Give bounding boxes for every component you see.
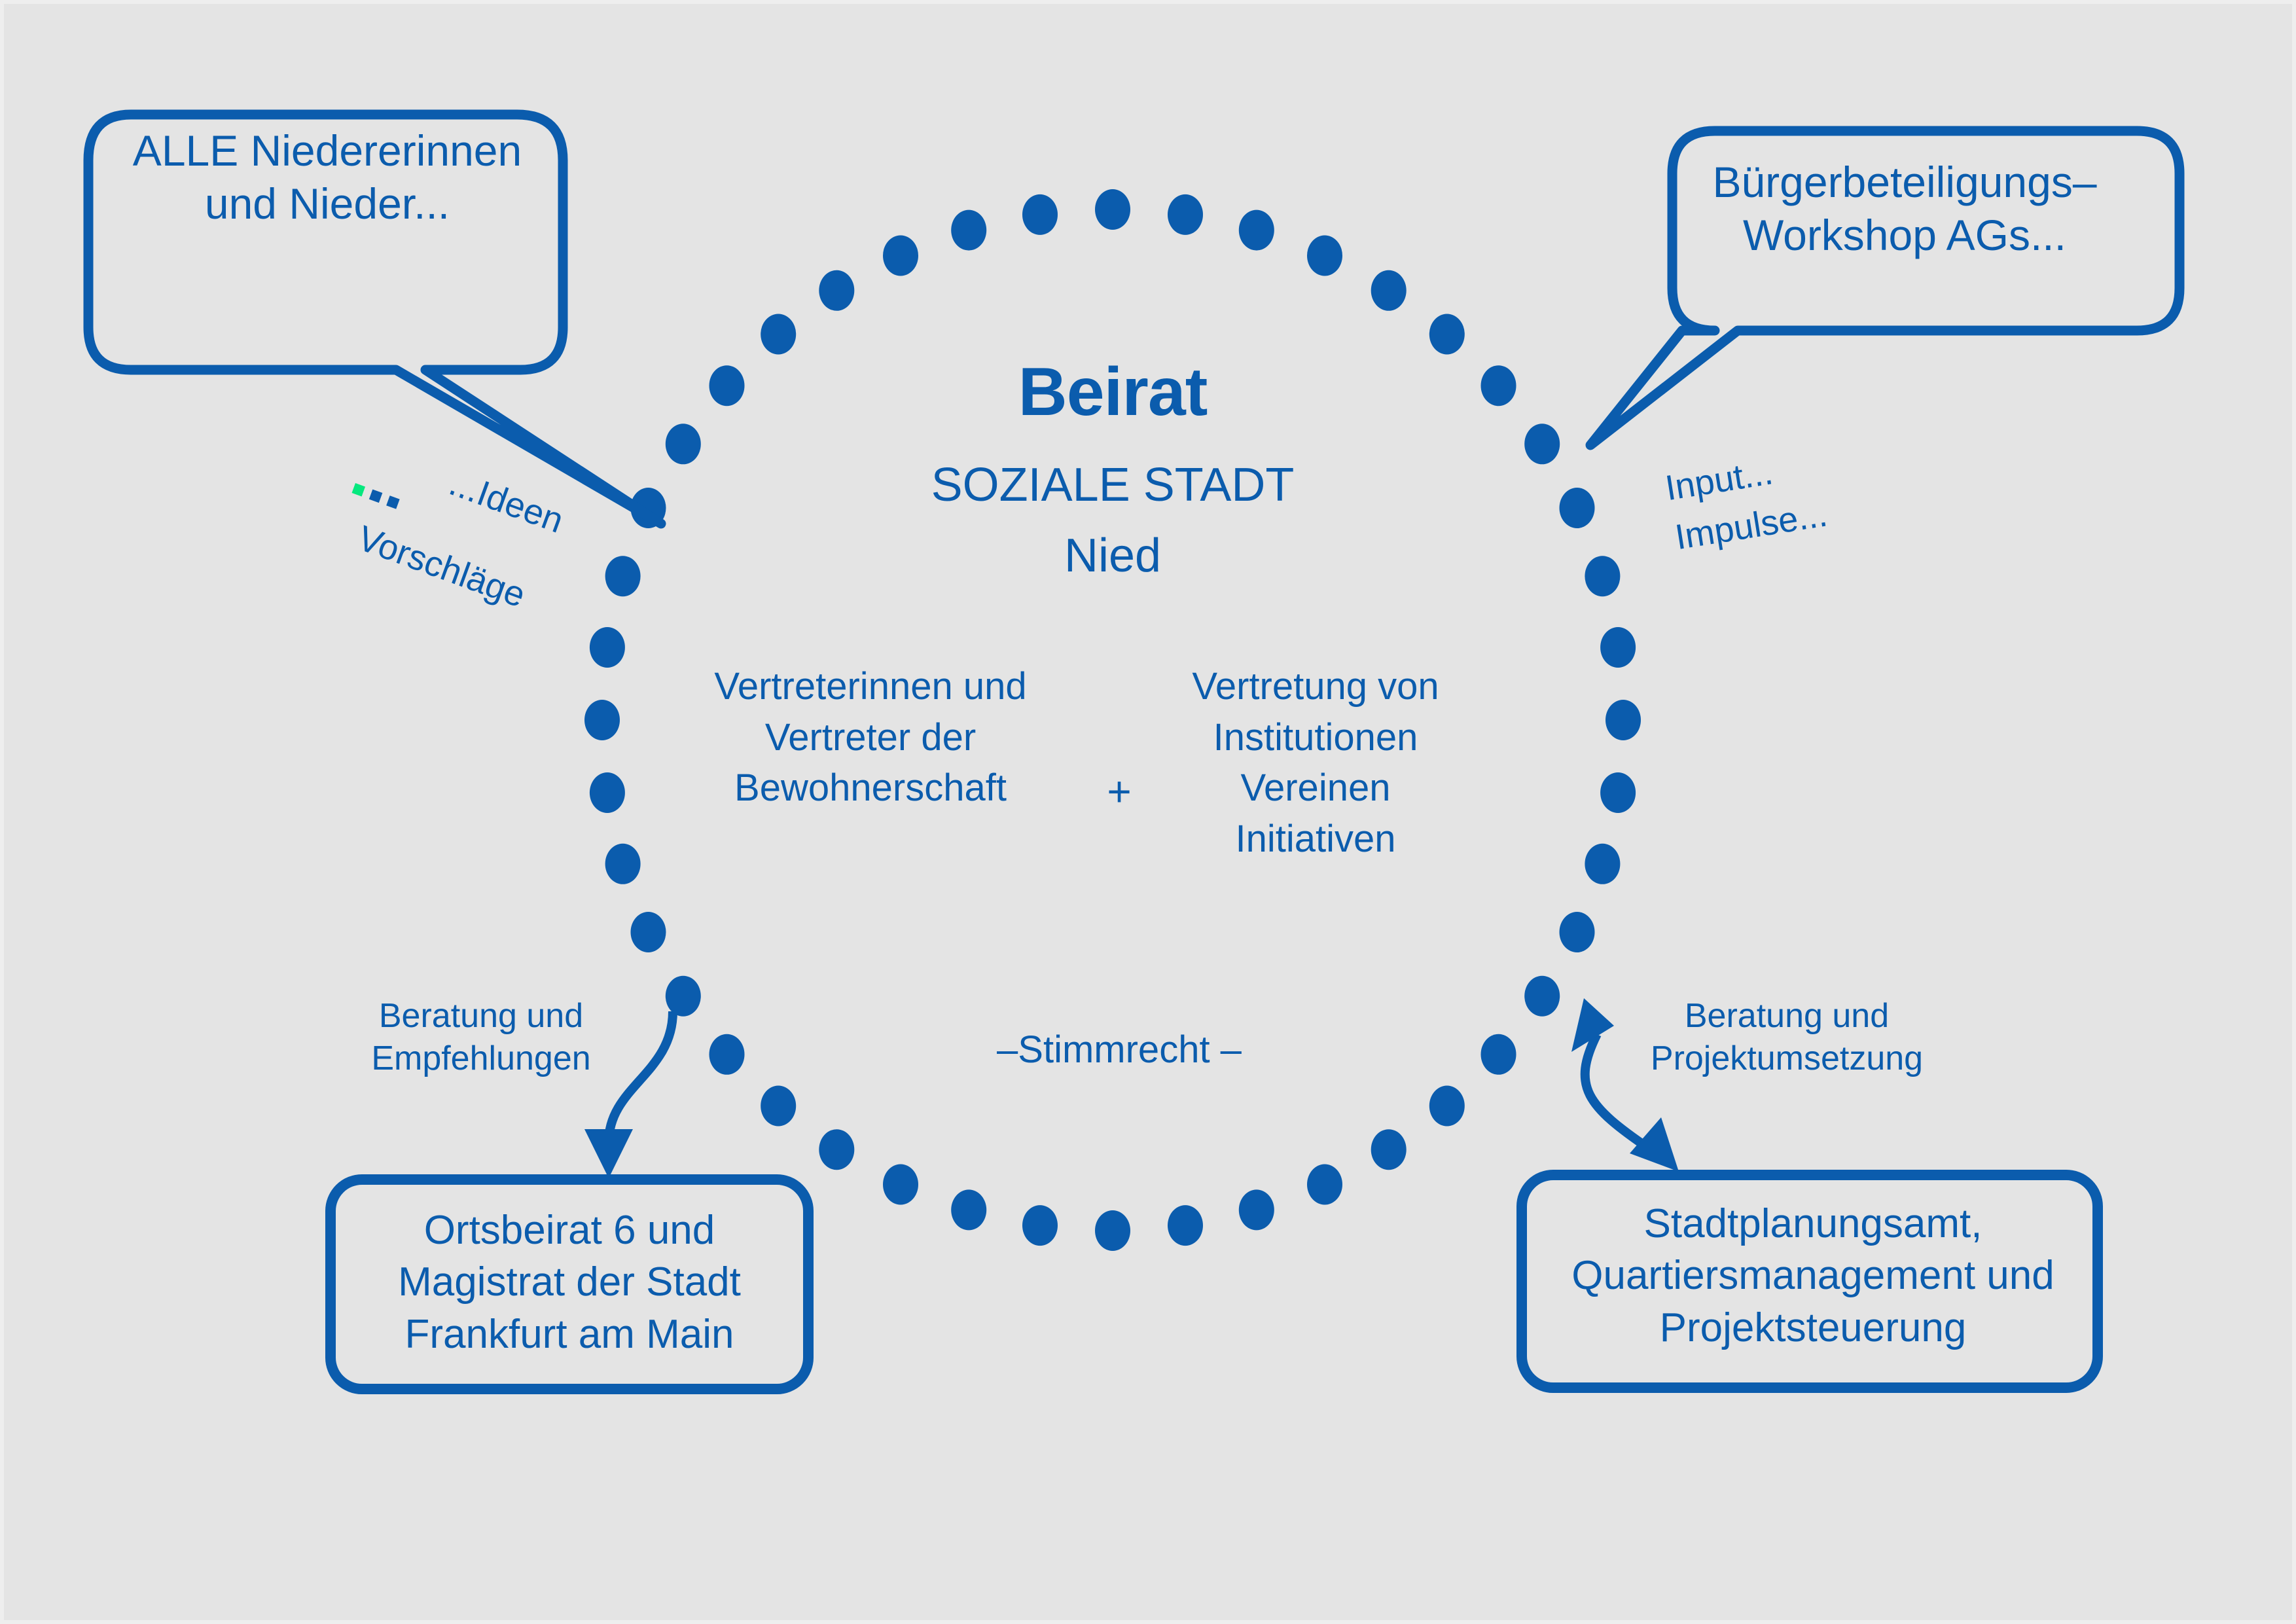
box-bottom-left-text: Ortsbeirat 6 und Magistrat der Stadt Fra… (340, 1204, 798, 1360)
center-subtitle-line1: SOZIALE STADT (772, 458, 1453, 512)
center-left-column: Vertreterinnen und Vertreter der Bewohne… (700, 661, 1041, 814)
right-arrow-label: Beratung und Projektumsetzung (1630, 995, 1944, 1080)
center-subtitle-line2: Nied (772, 529, 1453, 583)
stimmrecht-note: –Stimmrecht – (916, 1028, 1322, 1072)
diagram-canvas: ALLE Niedererinnen und Nieder... Bürgerb… (0, 0, 2296, 1624)
center-right-column: Vertretung von Institutionen Vereinen In… (1185, 661, 1446, 865)
left-arrow-label: Beratung und Empfehlungen (340, 995, 622, 1080)
bubble-top-left-text: ALLE Niedererinnen und Nieder... (98, 124, 556, 230)
plus-sign: + (1080, 767, 1158, 816)
center-title: Beirat (772, 353, 1453, 431)
box-bottom-right-text: Stadtplanungsamt, Quartiersmanagement un… (1525, 1198, 2101, 1354)
bubble-top-right-text: Bürgerbeteiligungs– Workshop AGs... (1682, 156, 2127, 261)
